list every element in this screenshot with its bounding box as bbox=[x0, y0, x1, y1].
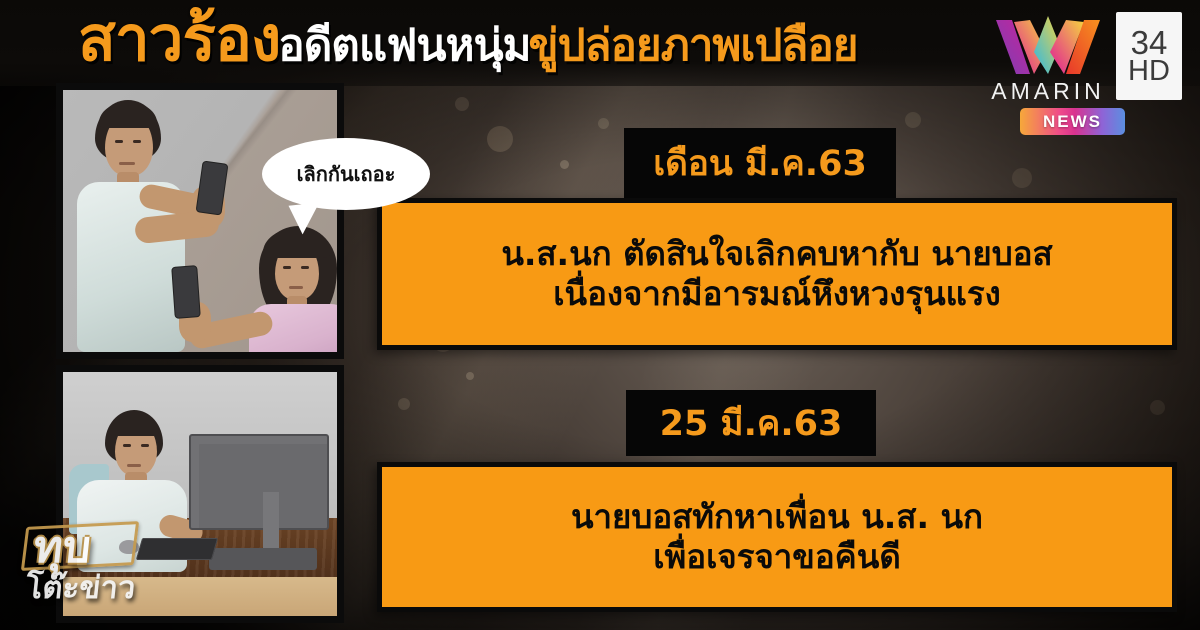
news-badge-label: NEWS bbox=[1043, 112, 1102, 132]
channel-badge: 34 HD bbox=[1116, 12, 1182, 100]
program-watermark: ทุบ โต๊ะข่าว bbox=[22, 512, 172, 612]
seated-man-mouth bbox=[127, 464, 141, 467]
info-card-2: นายบอสทักหาเพื่อน น.ส. นก เพื่อเจรจาขอคื… bbox=[377, 462, 1177, 612]
amarin-tv-logo: AMARIN 34 HD NEWS bbox=[990, 8, 1182, 140]
logo-top-row: AMARIN 34 HD bbox=[990, 8, 1182, 94]
man-eye-right bbox=[133, 140, 141, 143]
headline-part-3: ขู่ปล่อยภาพเปลือย bbox=[529, 24, 858, 68]
date-chip-1: เดือน มี.ค.63 bbox=[624, 128, 896, 198]
woman-eye-right bbox=[301, 266, 309, 269]
amarin-crown-icon bbox=[994, 12, 1102, 80]
info-card-1: น.ส.นก ตัดสินใจเลิกคบหากับ นายบอส เนื่อง… bbox=[377, 198, 1177, 350]
news-graphic-canvas: สาวร้องอดีตแฟนหนุ่มขู่ปล่อยภาพเปลือย bbox=[0, 0, 1200, 630]
man-eye-left bbox=[115, 140, 123, 143]
monitor-stand-neck bbox=[263, 492, 279, 556]
seated-man-eye-left bbox=[123, 444, 131, 447]
woman-eye-left bbox=[283, 266, 291, 269]
headline-part-2: อดีตแฟนหนุ่ม bbox=[278, 24, 530, 68]
headline-part-1: สาวร้อง bbox=[78, 8, 280, 70]
info-card-2-line-1: นายบอสทักหาเพื่อน น.ส. นก bbox=[571, 497, 983, 537]
news-badge: NEWS bbox=[1020, 108, 1125, 135]
amarin-wordmark: AMARIN bbox=[990, 78, 1106, 105]
channel-number: 34 bbox=[1131, 27, 1168, 58]
headline: สาวร้องอดีตแฟนหนุ่มขู่ปล่อยภาพเปลือย bbox=[78, 8, 858, 70]
speech-bubble-text: เลิกกันเถอะ bbox=[297, 158, 396, 190]
man-mouth bbox=[119, 162, 135, 165]
woman-phone bbox=[171, 265, 201, 319]
date-chip-2: 25 มี.ค.63 bbox=[626, 390, 876, 456]
watermark-line-2: โต๊ะข่าว bbox=[23, 562, 138, 612]
seated-man-eye-right bbox=[141, 444, 149, 447]
date-chip-2-label: 25 มี.ค.63 bbox=[660, 396, 843, 451]
computer-monitor bbox=[189, 434, 329, 530]
speech-bubble: เลิกกันเถอะ bbox=[262, 138, 430, 210]
channel-quality: HD bbox=[1128, 58, 1170, 86]
date-chip-1-label: เดือน มี.ค.63 bbox=[653, 136, 867, 191]
woman-mouth bbox=[289, 286, 303, 289]
info-card-1-line-1: น.ส.นก ตัดสินใจเลิกคบหากับ นายบอส bbox=[501, 234, 1052, 274]
monitor-stand-base bbox=[209, 548, 317, 570]
info-card-2-line-2: เพื่อเจรจาขอคืนดี bbox=[653, 537, 901, 577]
info-card-1-line-2: เนื่องจากมีอารมณ์หึงหวงรุนแรง bbox=[553, 274, 1000, 314]
